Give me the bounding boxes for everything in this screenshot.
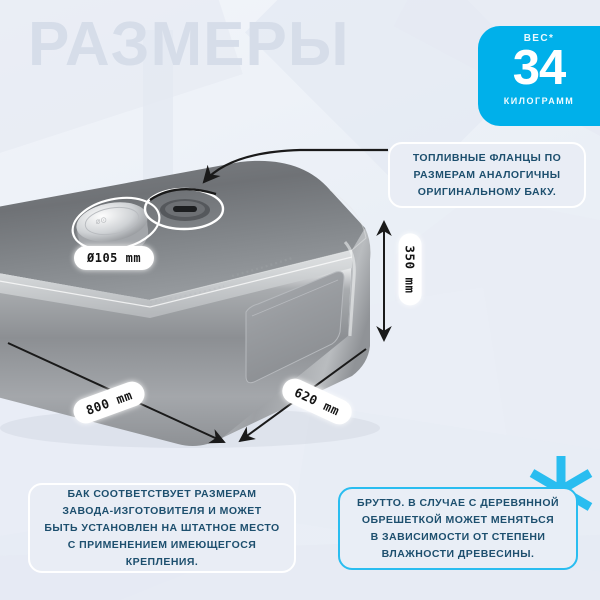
- callout-gross-weight: БРУТТО. В СЛУЧАЕ С ДЕРЕВЯННОЙ ОБРЕШЕТКОЙ…: [338, 487, 578, 570]
- callout-flange-line-1: ТОПЛИВНЫЕ ФЛАНЦЫ ПО: [413, 150, 561, 167]
- callout-flange-line-3: ОРИГИНАЛЬНОМУ БАКУ.: [413, 184, 561, 201]
- dimension-label-height: 350 mm: [399, 233, 422, 305]
- dimension-label-diameter: Ø105 mm: [74, 246, 154, 270]
- callout-mounting-line-3: БЫТЬ УСТАНОВЛЕН НА ШТАТНОЕ МЕСТО: [44, 520, 279, 537]
- fuel-tank-svg: ⌀⊙: [0, 150, 420, 460]
- page-title: РАЗМЕРЫ: [28, 14, 350, 76]
- callout-mounting-line-1: БАК СООТВЕТСТВУЕТ РАЗМЕРАМ: [44, 486, 279, 503]
- weight-badge: ВЕС* 34 КИЛОГРАММ: [478, 26, 600, 126]
- fuel-tank-illustration: ⌀⊙: [0, 150, 420, 460]
- weight-badge-value: 34: [478, 45, 600, 92]
- callout-mounting: БАК СООТВЕТСТВУЕТ РАЗМЕРАМ ЗАВОДА-ИЗГОТО…: [28, 483, 296, 573]
- callout-gross-line-4: ВЛАЖНОСТИ ДРЕВЕСИНЫ.: [357, 546, 559, 563]
- callout-gross-line-1: БРУТТО. В СЛУЧАЕ С ДЕРЕВЯННОЙ: [357, 495, 559, 512]
- weight-badge-unit: КИЛОГРАММ: [478, 96, 600, 106]
- fuel-flange: [160, 199, 210, 221]
- callout-flange-line-2: РАЗМЕРАМ АНАЛОГИЧНЫ: [413, 167, 561, 184]
- callout-mounting-line-5: КРЕПЛЕНИЯ.: [44, 554, 279, 571]
- callout-gross-line-2: ОБРЕШЕТКОЙ МОЖЕТ МЕНЯТЬСЯ: [357, 512, 559, 529]
- callout-mounting-line-2: ЗАВОДА-ИЗГОТОВИТЕЛЯ И МОЖЕТ: [44, 503, 279, 520]
- callout-fuel-flange: ТОПЛИВНЫЕ ФЛАНЦЫ ПО РАЗМЕРАМ АНАЛОГИЧНЫ …: [388, 142, 586, 208]
- callout-gross-line-3: В ЗАВИСИМОСТИ ОТ СТЕПЕНИ: [357, 529, 559, 546]
- flange-slot: [173, 206, 197, 212]
- infographic-canvas: РАЗМЕРЫ ВЕС* 34 КИЛОГРАММ: [0, 0, 600, 600]
- callout-mounting-line-4: С ПРИМЕНЕНИЕМ ИМЕЮЩЕГОСЯ: [44, 537, 279, 554]
